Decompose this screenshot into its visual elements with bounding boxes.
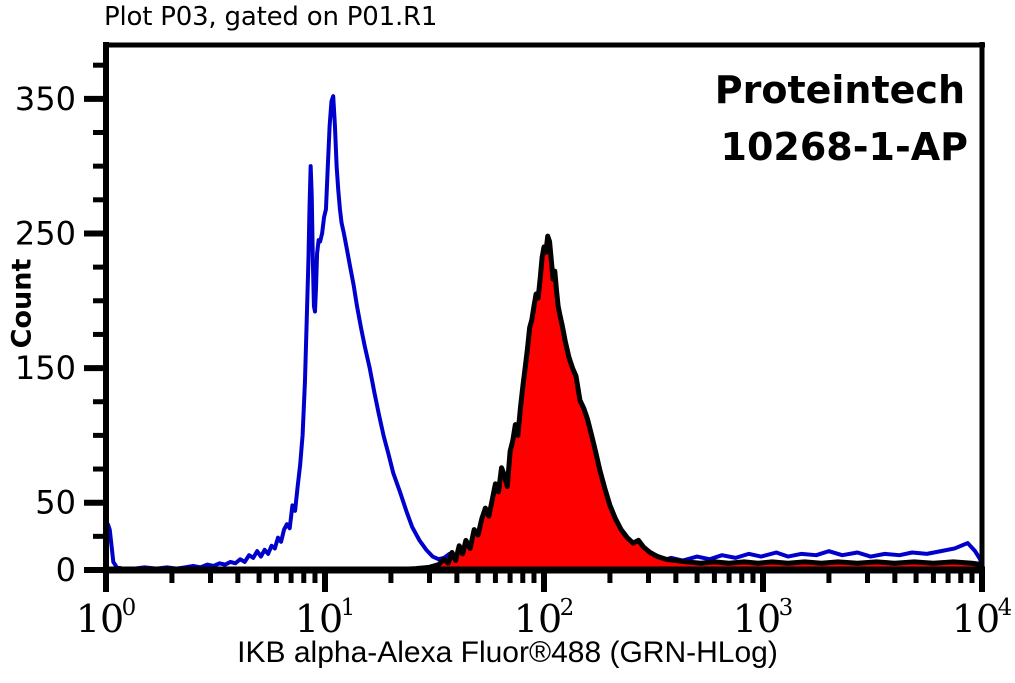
histogram-canvas: 050150250350 100101102103104 Proteintech… <box>0 0 1015 683</box>
svg-text:10: 10 <box>514 597 562 641</box>
watermark-brand: Proteintech <box>715 68 965 112</box>
svg-text:0: 0 <box>122 595 137 621</box>
watermark-catalog: 10268-1-AP <box>721 125 968 169</box>
svg-text:3: 3 <box>779 595 794 621</box>
y-tick-label: 0 <box>56 551 76 589</box>
x-tick-label: 100 <box>76 595 137 641</box>
y-tick-label: 50 <box>35 484 76 522</box>
svg-text:1: 1 <box>341 595 356 621</box>
x-tick-label: 103 <box>733 595 794 641</box>
y-tick-layer: 050150250350 <box>15 65 106 589</box>
x-tick-layer: 100101102103104 <box>76 570 1013 641</box>
svg-text:10: 10 <box>76 597 124 641</box>
svg-text:10: 10 <box>952 597 1000 641</box>
flow-cytometry-figure: Plot P03, gated on P01.R1 Count IKB alph… <box>0 0 1015 683</box>
y-tick-label: 150 <box>15 349 76 387</box>
x-tick-label: 101 <box>295 595 356 641</box>
x-tick-label: 102 <box>514 595 575 641</box>
y-tick-label: 250 <box>15 214 76 252</box>
svg-text:10: 10 <box>295 597 343 641</box>
x-tick-label: 104 <box>952 595 1013 641</box>
svg-text:2: 2 <box>560 595 575 621</box>
y-tick-label: 350 <box>15 80 76 118</box>
svg-text:10: 10 <box>733 597 781 641</box>
svg-text:4: 4 <box>998 595 1013 621</box>
